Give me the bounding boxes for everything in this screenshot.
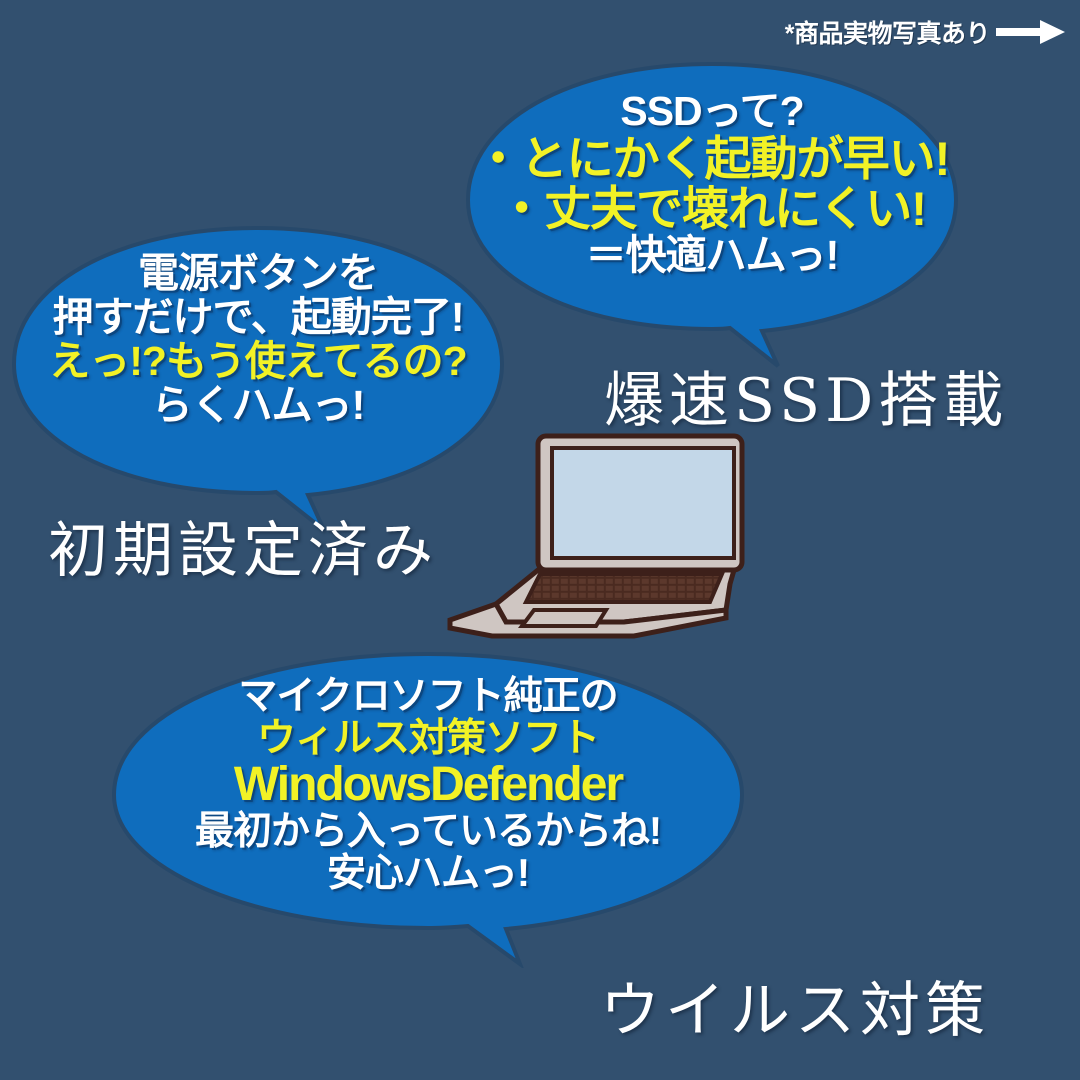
bubble-line: ＝快適ハムっ!	[462, 234, 962, 278]
promo-graphic-canvas: *商品実物写真あり SSDって? ・とにかく起動が早い! ・丈夫で壊れにくい! …	[0, 0, 1080, 1080]
speech-bubble-startup: 電源ボタンを 押すだけで、起動完了! えっ!?もう使えてるの? らくハムっ!	[8, 222, 508, 532]
right-arrow-icon	[996, 19, 1066, 45]
bubble-line: 押すだけで、起動完了!	[8, 296, 508, 340]
caption-antivirus: ウイルス対策	[600, 962, 990, 1049]
bubble-line: マイクロソフト純正の	[108, 676, 748, 718]
photo-note: *商品実物写真あり	[785, 14, 1066, 50]
bubble-line: 安心ハムっ!	[108, 853, 748, 895]
bubble-line: ・丈夫で壊れにくい!	[462, 184, 962, 234]
laptop-illustration-icon	[434, 424, 754, 648]
bubble-line: SSDって?	[462, 90, 962, 134]
bubble-line: ・とにかく起動が早い!	[462, 134, 962, 184]
bubble-line: WindowsDefender	[108, 759, 748, 810]
speech-bubble-ssd: SSDって? ・とにかく起動が早い! ・丈夫で壊れにくい! ＝快適ハムっ!	[462, 58, 962, 368]
bubble-text-ssd: SSDって? ・とにかく起動が早い! ・丈夫で壊れにくい! ＝快適ハムっ!	[462, 90, 962, 278]
bubble-line: らくハムっ!	[8, 384, 508, 428]
bubble-line: ウィルス対策ソフト	[108, 718, 748, 760]
bubble-text-defender: マイクロソフト純正の ウィルス対策ソフト WindowsDefender 最初か…	[108, 676, 748, 894]
bubble-line: 電源ボタンを	[8, 252, 508, 296]
speech-bubble-defender: マイクロソフト純正の ウィルス対策ソフト WindowsDefender 最初か…	[108, 648, 748, 968]
bubble-line: えっ!?もう使えてるの?	[8, 340, 508, 384]
caption-setup: 初期設定済み	[48, 502, 438, 589]
bubble-text-startup: 電源ボタンを 押すだけで、起動完了! えっ!?もう使えてるの? らくハムっ!	[8, 252, 508, 427]
photo-note-label: *商品実物写真あり	[785, 14, 990, 50]
bubble-line: 最初から入っているからね!	[108, 811, 748, 853]
